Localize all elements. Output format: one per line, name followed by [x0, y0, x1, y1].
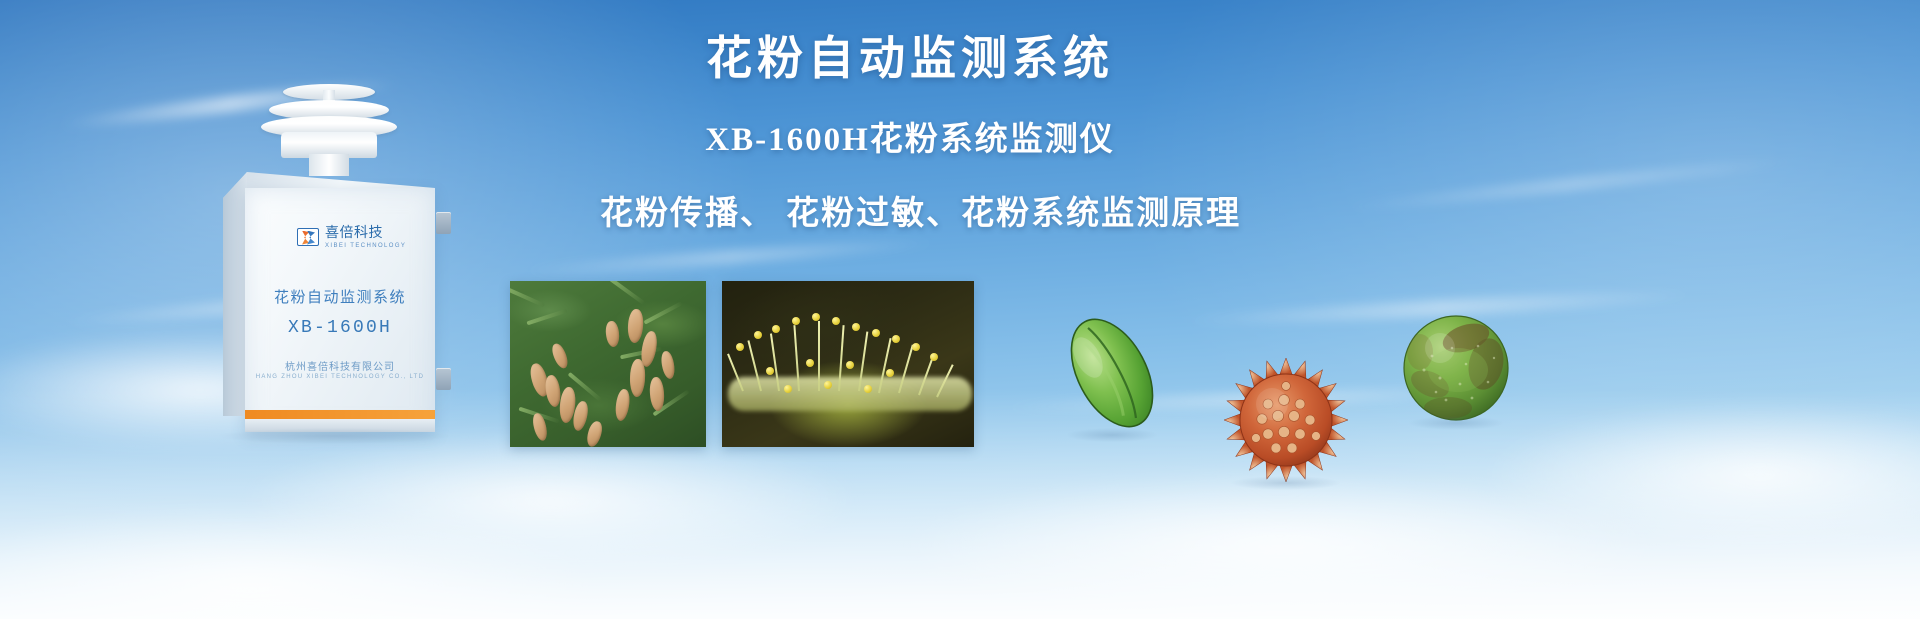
- device-brand-logo: 喜倍科技 XIBEI TECHNOLOGY: [297, 224, 406, 249]
- grain-shadow: [1067, 428, 1158, 442]
- grain-shadow: [1232, 476, 1340, 490]
- device-cabinet: 喜倍科技 XIBEI TECHNOLOGY 花粉自动监测系统 XB-1600H …: [223, 172, 435, 432]
- pollen-grain-green-ellipse: [1058, 310, 1166, 436]
- device-side-face: [223, 172, 247, 416]
- headline-block: 花粉自动监测系统 XB-1600H花粉系统监测仪 花粉传播、 花粉过敏、花粉系统…: [600, 30, 1220, 234]
- device-latch-bottom: [436, 368, 451, 390]
- xibei-logo-icon: [297, 228, 319, 246]
- grain-shadow: [1409, 416, 1503, 430]
- pollen-grain-mottled-green: [1400, 312, 1512, 424]
- product-subtitle: XB-1600H花粉系统监测仪: [600, 112, 1220, 160]
- device-brand-text: 喜倍科技 XIBEI TECHNOLOGY: [325, 224, 406, 249]
- device-model-label: XB-1600H: [245, 318, 435, 338]
- device-panel-title: 花粉自动监测系统: [245, 286, 435, 307]
- photo-catkin-stamens: [722, 281, 974, 447]
- brand-name-en: XIBEI TECHNOLOGY: [325, 243, 406, 249]
- topic-tagline: 花粉传播、 花粉过敏、花粉系统监测原理: [600, 186, 1220, 234]
- device-ground-shadow: [219, 428, 449, 444]
- pollen-monitoring-banner: 花粉自动监测系统 XB-1600H花粉系统监测仪 花粉传播、 花粉过敏、花粉系统…: [0, 0, 1920, 619]
- xb-1600h-device-illustration: 喜倍科技 XIBEI TECHNOLOGY 花粉自动监测系统 XB-1600H …: [205, 80, 465, 430]
- device-front-panel: 喜倍科技 XIBEI TECHNOLOGY 花粉自动监测系统 XB-1600H …: [245, 188, 435, 432]
- brand-name-cn: 喜倍科技: [325, 224, 383, 240]
- device-company-en: HANG ZHOU XIBEI TECHNOLOGY CO., LTD: [245, 374, 435, 380]
- device-orange-stripe: [245, 410, 435, 419]
- catkin-axis: [728, 377, 972, 411]
- device-latch-top: [436, 212, 451, 234]
- photo-cedar-pollen-cones: [510, 281, 706, 447]
- pollen-grain-spiky-orange: [1222, 356, 1350, 484]
- page-title: 花粉自动监测系统: [600, 30, 1220, 88]
- device-company-cn: 杭州喜倍科技有限公司: [245, 358, 435, 373]
